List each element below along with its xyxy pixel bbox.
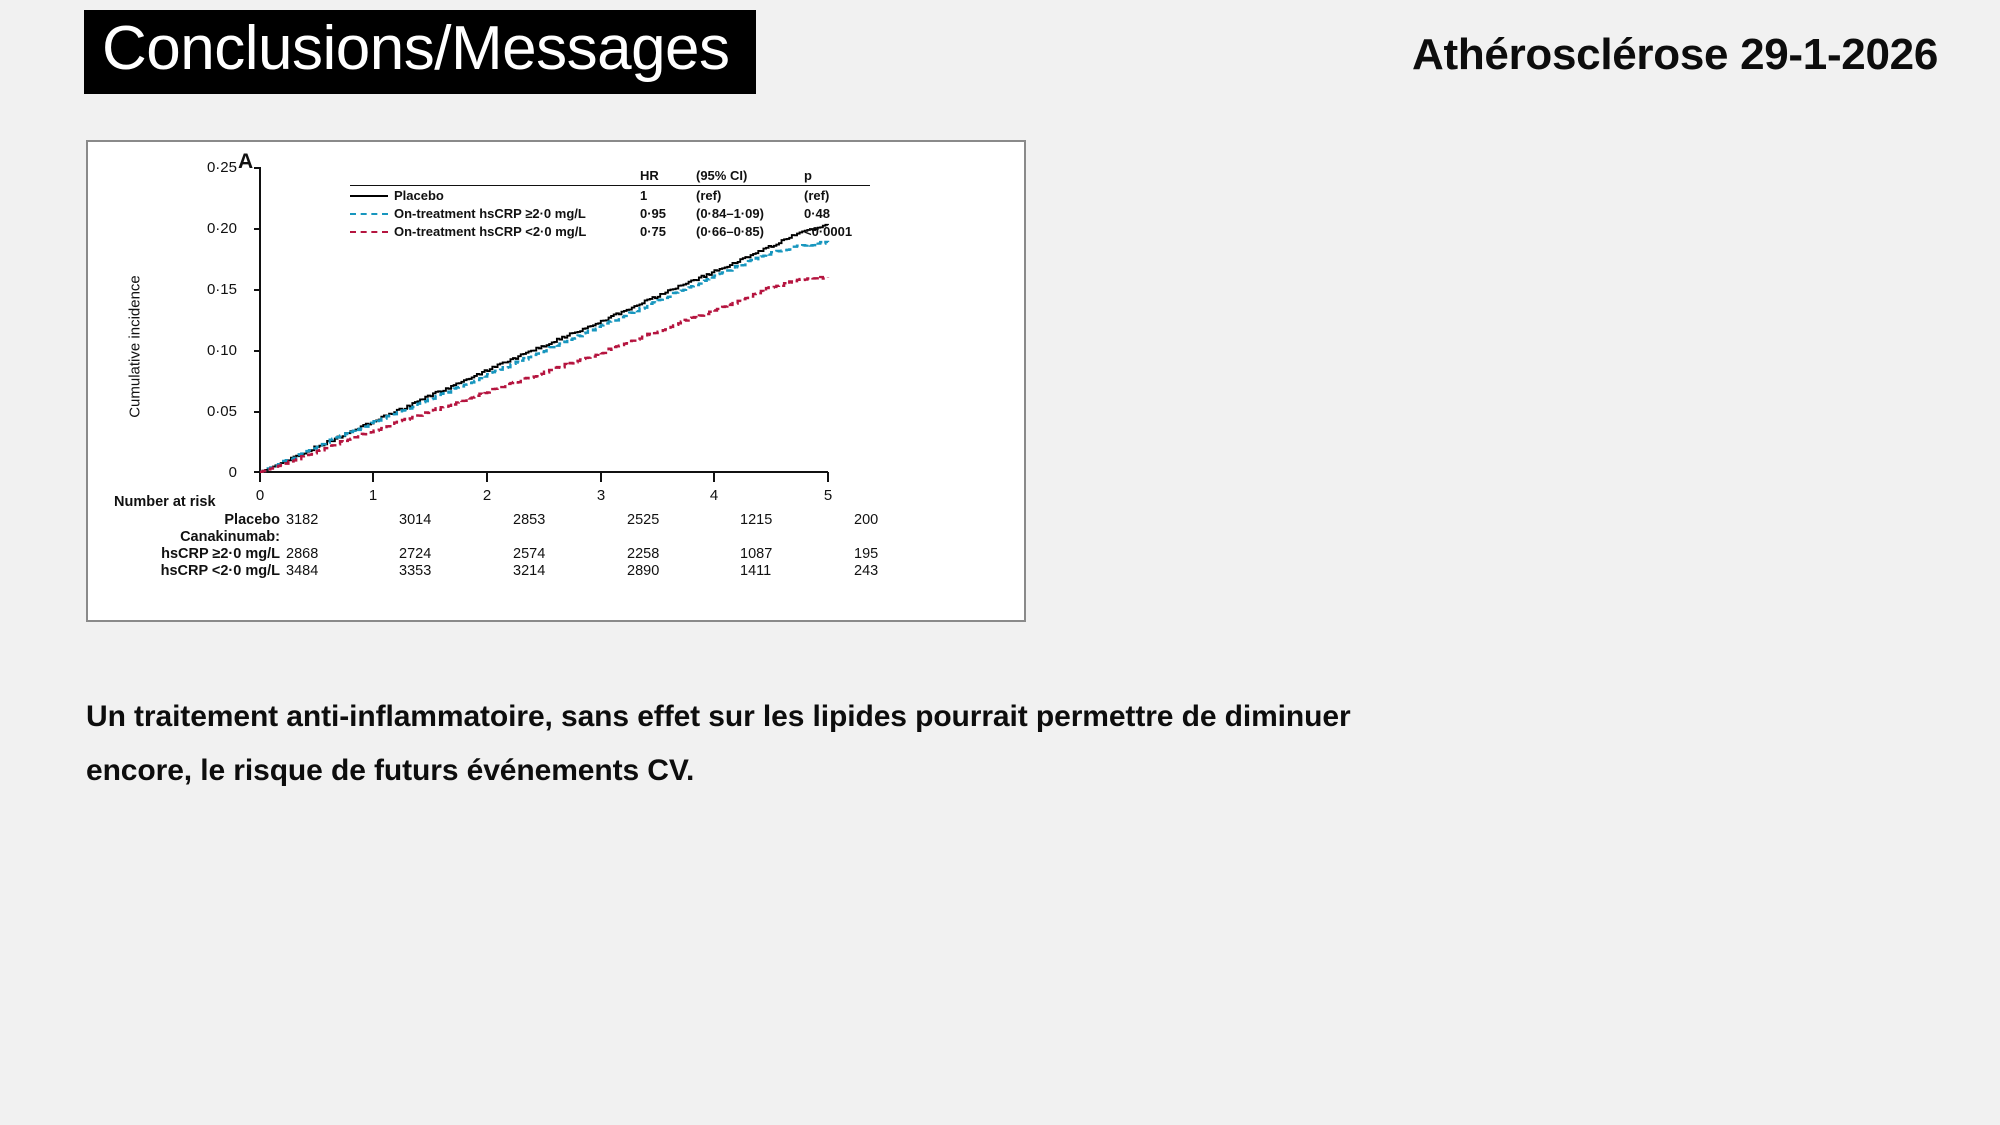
risk-value: 2724: [399, 546, 469, 562]
risk-row-hscrp-high: hsCRP ≥2·0 mg/L 2868 2724 2574 2258 1087…: [88, 546, 1024, 564]
header-subtitle: Athérosclérose 29-1-2026: [1412, 30, 1938, 80]
legend-header-row: HR (95% CI) p: [350, 168, 870, 186]
risk-value: 3484: [286, 563, 356, 579]
panel-letter: A: [238, 150, 253, 174]
legend-hr: 0·75: [640, 222, 696, 240]
risk-value: 2525: [627, 512, 697, 528]
legend-header-ci: (95% CI): [696, 168, 804, 186]
risk-row-hscrp-low: hsCRP <2·0 mg/L 3484 3353 3214 2890 1411…: [88, 563, 1024, 581]
legend-row: On-treatment hsCRP ≥2·0 mg/L 0·95 (0·84–…: [350, 204, 870, 222]
x-tick-label-5: 5: [808, 487, 848, 504]
legend-table: HR (95% CI) p Placebo 1 (ref) (ref): [350, 168, 870, 240]
y-tick-label-1: 0·05: [183, 403, 237, 420]
y-tick-label-3: 0·15: [183, 281, 237, 298]
legend-row: Placebo 1 (ref) (ref): [350, 186, 870, 205]
y-axis-title: Cumulative incidence: [127, 232, 144, 462]
risk-group-header-row: Canakinumab:: [88, 529, 1024, 547]
risk-value: 3014: [399, 512, 469, 528]
caption-line-1: Un traitement anti-inflammatoire, sans e…: [86, 690, 1886, 744]
caption-line-2: encore, le risque de futurs événements C…: [86, 744, 1886, 798]
line-sample-dashed-red-icon: [350, 231, 388, 233]
legend-label: On-treatment hsCRP <2·0 mg/L: [394, 222, 640, 240]
x-tick-label-0: 0: [240, 487, 280, 504]
chart-legend: HR (95% CI) p Placebo 1 (ref) (ref): [350, 168, 870, 240]
legend-header-p: p: [804, 168, 870, 186]
legend-p: <0·0001: [804, 222, 870, 240]
caption-block: Un traitement anti-inflammatoire, sans e…: [86, 690, 1886, 798]
risk-value: 3214: [513, 563, 583, 579]
x-tick-label-4: 4: [694, 487, 734, 504]
legend-hr: 1: [640, 186, 696, 205]
risk-row-label: hsCRP ≥2·0 mg/L: [88, 546, 280, 562]
y-tick-label-4: 0·20: [183, 220, 237, 237]
risk-value: 1215: [740, 512, 810, 528]
legend-header-swatch: [350, 168, 394, 186]
y-tick-label-2: 0·10: [183, 342, 237, 359]
legend-label: On-treatment hsCRP ≥2·0 mg/L: [394, 204, 640, 222]
legend-ci: (0·66–0·85): [696, 222, 804, 240]
figure-panel: A Cumulative incidence 0 0·05 0·10 0·15 …: [86, 140, 1026, 622]
legend-ci: (ref): [696, 186, 804, 205]
y-tick-label-0: 0: [183, 464, 237, 481]
risk-value: 2258: [627, 546, 697, 562]
y-tick-label-5: 0·25: [183, 159, 237, 176]
slide-header: Conclusions/Messages Athérosclérose 29-1…: [0, 0, 2000, 110]
legend-swatch-placebo: [350, 186, 394, 205]
legend-row: On-treatment hsCRP <2·0 mg/L 0·75 (0·66–…: [350, 222, 870, 240]
line-sample-solid-icon: [350, 195, 388, 197]
legend-header-hr: HR: [640, 168, 696, 186]
risk-value: 195: [854, 546, 924, 562]
risk-value: 2853: [513, 512, 583, 528]
risk-value: 243: [854, 563, 924, 579]
x-tick-label-3: 3: [581, 487, 621, 504]
x-tick-label-2: 2: [467, 487, 507, 504]
page-title: Conclusions/Messages: [102, 14, 730, 83]
line-sample-dashed-blue-icon: [350, 213, 388, 215]
risk-value: 3182: [286, 512, 356, 528]
risk-row-placebo: Placebo 3182 3014 2853 2525 1215 200: [88, 512, 1024, 530]
risk-value: 200: [854, 512, 924, 528]
series-line: [260, 277, 828, 472]
figure-inner: A Cumulative incidence 0 0·05 0·10 0·15 …: [88, 142, 1024, 620]
legend-p: (ref): [804, 186, 870, 205]
risk-row-label: Placebo: [88, 512, 280, 528]
x-tick-label-1: 1: [353, 487, 393, 504]
legend-header-series: [394, 168, 640, 186]
risk-value: 2890: [627, 563, 697, 579]
legend-ci: (0·84–1·09): [696, 204, 804, 222]
risk-value: 2574: [513, 546, 583, 562]
risk-value: 3353: [399, 563, 469, 579]
risk-value: 2868: [286, 546, 356, 562]
risk-value: 1087: [740, 546, 810, 562]
legend-swatch-hscrp-low: [350, 222, 394, 240]
legend-p: 0·48: [804, 204, 870, 222]
legend-label: Placebo: [394, 186, 640, 205]
risk-group-header: Canakinumab:: [88, 529, 280, 545]
series-line: [260, 242, 828, 472]
legend-hr: 0·95: [640, 204, 696, 222]
slide-title-banner: Conclusions/Messages: [84, 10, 756, 94]
risk-value: 1411: [740, 563, 810, 579]
legend-swatch-hscrp-high: [350, 204, 394, 222]
risk-row-label: hsCRP <2·0 mg/L: [88, 563, 280, 579]
number-at-risk-title: Number at risk: [114, 494, 216, 510]
